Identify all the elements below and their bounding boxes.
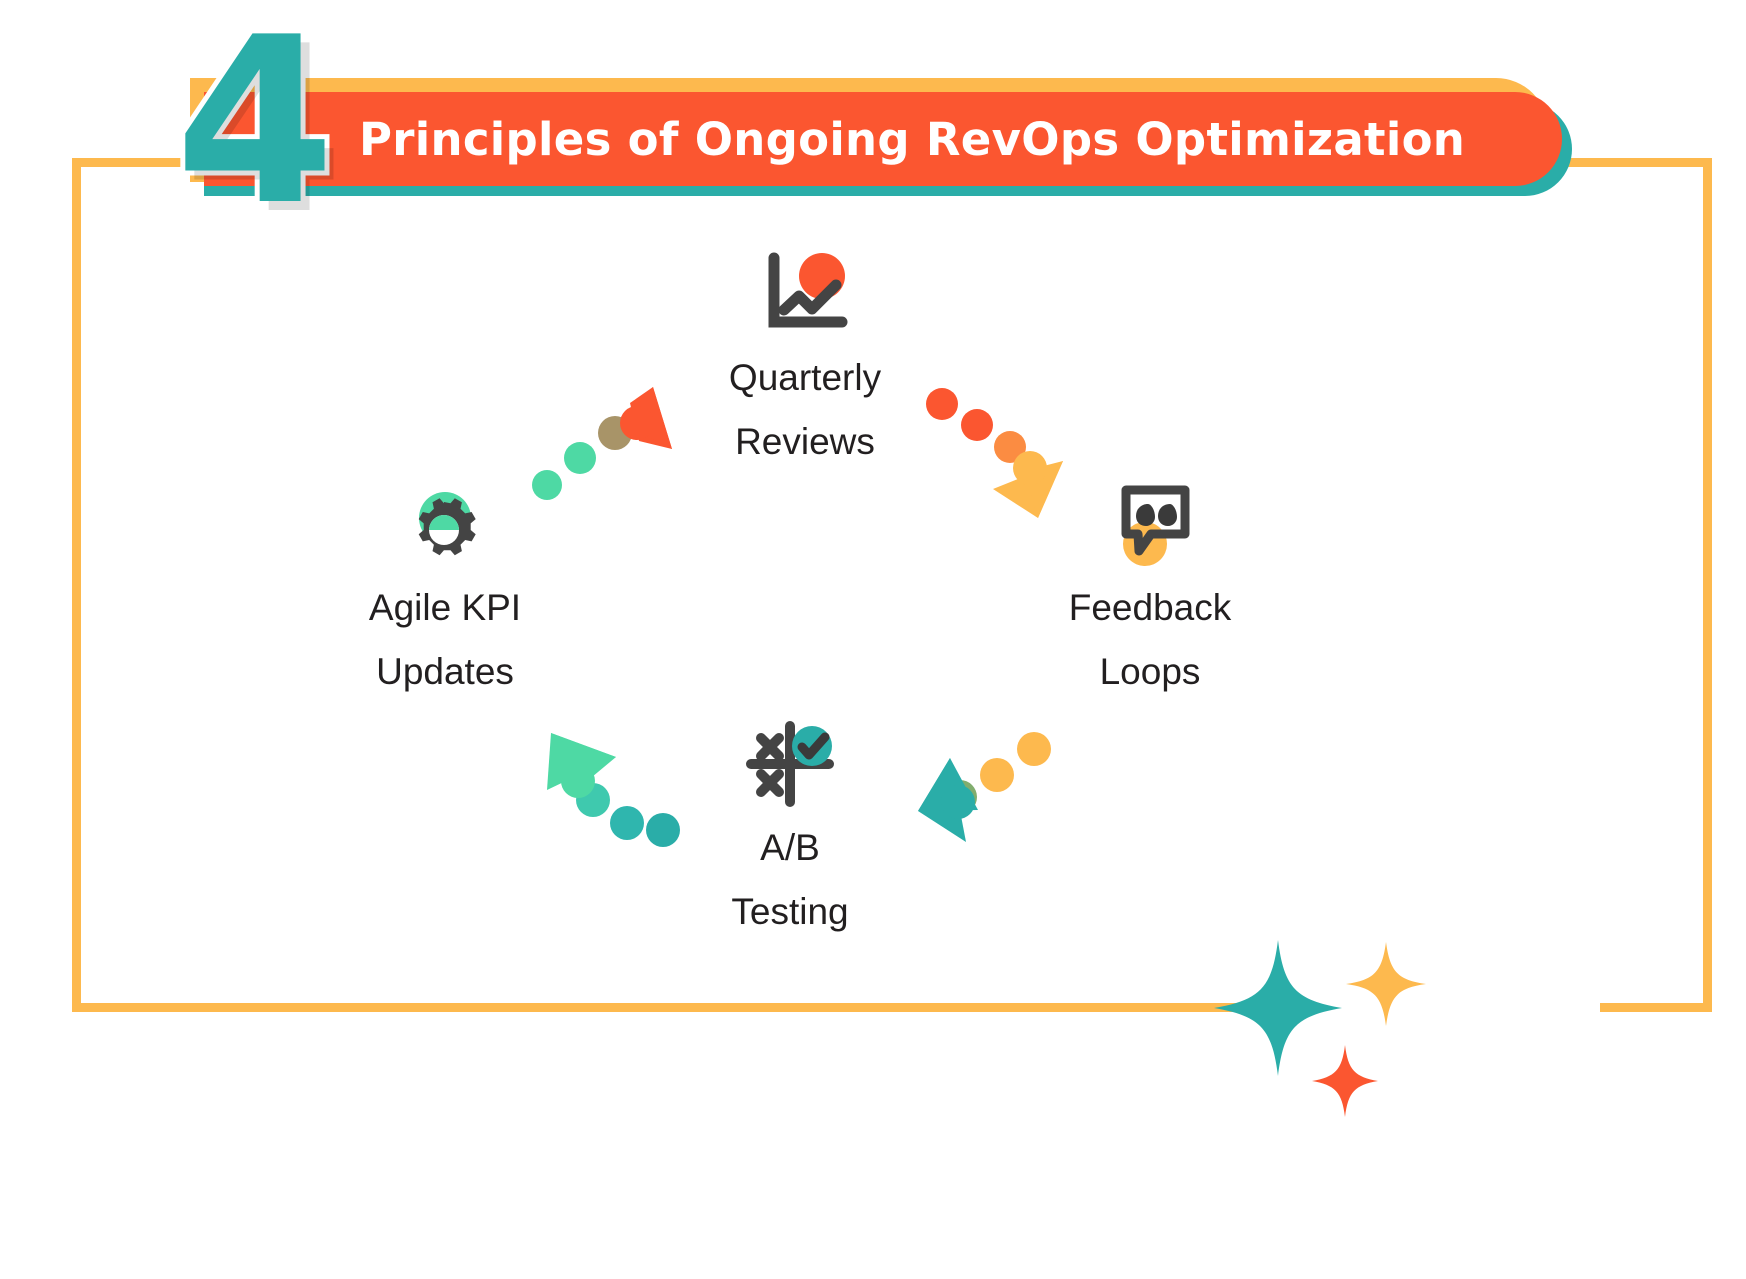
line-chart-icon — [655, 248, 955, 340]
sparkle-yellow — [1346, 942, 1426, 1026]
infographic-canvas: Principles of Ongoing RevOps Optimizatio… — [0, 0, 1746, 1279]
node-label-agile-kpi-updates: Agile KPI Updates — [295, 576, 595, 703]
connector-bottom-left — [520, 715, 690, 860]
connector-bottom-right — [900, 725, 1060, 870]
decorative-sparkles — [1190, 920, 1490, 1175]
frame-border-left — [72, 158, 81, 1003]
sparkle-orange — [1312, 1045, 1378, 1117]
node-agile-kpi-updates: Agile KPI Updates — [295, 478, 595, 703]
node-quarterly-reviews: Quarterly Reviews — [655, 248, 955, 473]
frame-border-right — [1703, 158, 1712, 1003]
node-label-feedback-loops: Feedback Loops — [1000, 576, 1300, 703]
page-title: Principles of Ongoing RevOps Optimizatio… — [359, 113, 1465, 166]
node-label-quarterly-reviews: Quarterly Reviews — [655, 346, 955, 473]
frame-border-bottom — [72, 1003, 1302, 1012]
sparkle-teal — [1214, 940, 1342, 1076]
header-banner: Principles of Ongoing RevOps Optimizatio… — [190, 78, 1572, 196]
header-number: 4 — [175, 8, 335, 238]
connector-top-left — [525, 375, 675, 510]
banner-body: Principles of Ongoing RevOps Optimizatio… — [204, 92, 1562, 186]
frame-border-bottom-right — [1600, 1003, 1712, 1012]
connector-top-right — [920, 385, 1080, 530]
